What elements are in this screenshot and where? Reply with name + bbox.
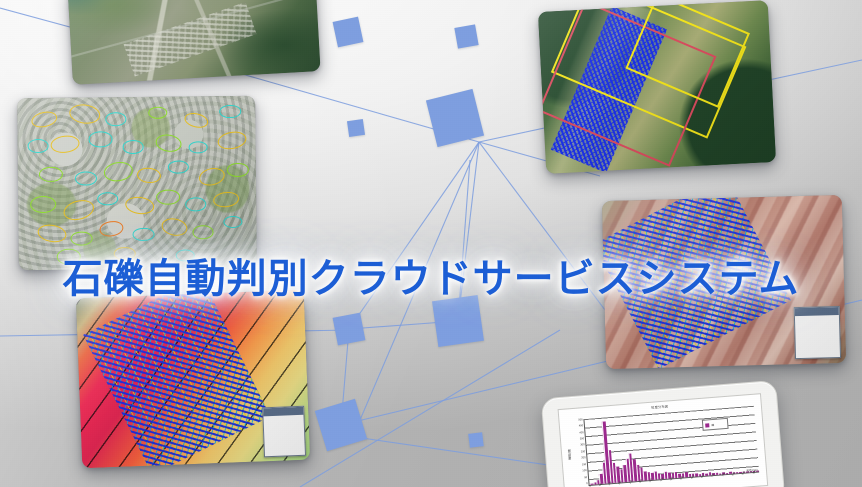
node-lower-left[interactable] [315,399,367,451]
network-nodes [0,0,862,487]
node-small-upper-left[interactable] [333,17,364,48]
node-small-upper-right[interactable] [454,24,478,48]
node-mid-left[interactable] [333,313,366,346]
node-small-lower-right[interactable] [468,432,484,448]
node-mid-right[interactable] [432,295,484,347]
node-small-mid-left[interactable] [347,119,365,137]
node-hub-center[interactable] [426,89,484,147]
slide-root: 粒度分布図 礫数(個) 5004504003503002502001501005… [0,0,862,487]
